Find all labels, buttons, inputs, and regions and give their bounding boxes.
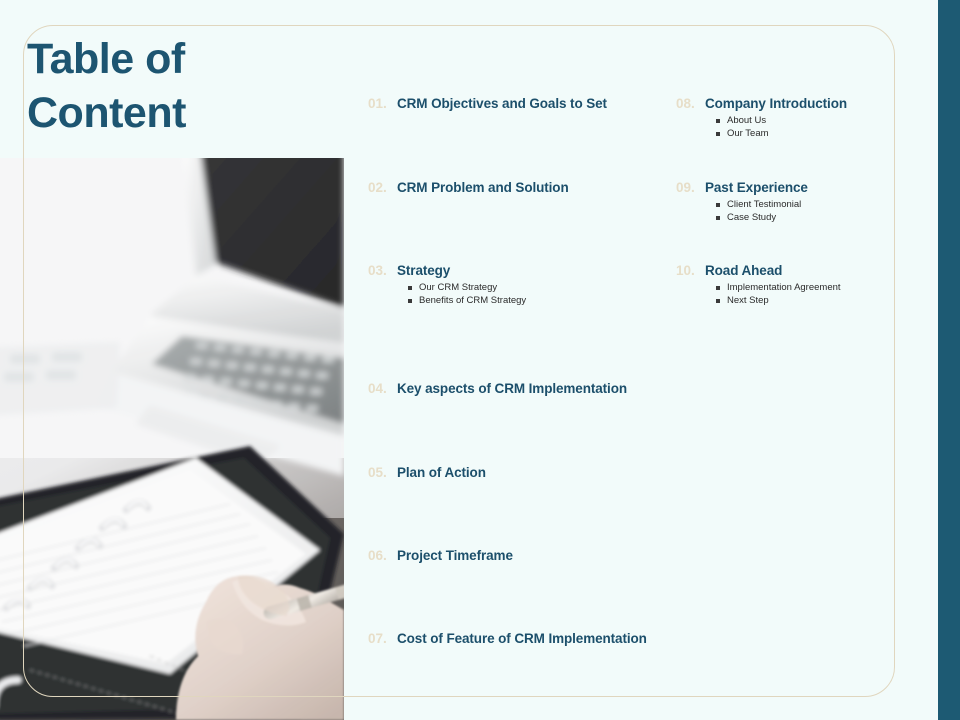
toc-subitem[interactable]: Client Testimonial bbox=[716, 198, 896, 211]
toc-entry-01[interactable]: 01. CRM Objectives and Goals to Set bbox=[368, 96, 668, 111]
toc-subitem[interactable]: Our Team bbox=[716, 127, 896, 140]
toc-entry-06-number: 06. bbox=[368, 548, 390, 563]
right-accent-bar bbox=[938, 0, 960, 720]
square-bullet-icon bbox=[716, 299, 720, 303]
toc-entry-04-title: Key aspects of CRM Implementation bbox=[397, 381, 627, 396]
square-bullet-icon bbox=[408, 299, 412, 303]
page-title-line-1: Table of bbox=[27, 32, 357, 86]
toc-entry-06-head: 06. Project Timeframe bbox=[368, 548, 668, 563]
slide-canvas: Table of Content 01. CRM Objectives and … bbox=[0, 0, 960, 720]
toc-entry-05[interactable]: 05. Plan of Action bbox=[368, 465, 668, 480]
square-bullet-icon bbox=[716, 119, 720, 123]
toc-entry-04-number: 04. bbox=[368, 381, 390, 396]
photo-illustration bbox=[0, 158, 344, 720]
toc-entry-10-sublist: Implementation Agreement Next Step bbox=[676, 281, 896, 307]
toc-entry-02-number: 02. bbox=[368, 180, 390, 195]
toc-subitem-label: Client Testimonial bbox=[727, 199, 801, 210]
toc-entry-03-number: 03. bbox=[368, 263, 390, 278]
toc-entry-09-head: 09. Past Experience bbox=[676, 180, 896, 195]
toc-entry-02-title: CRM Problem and Solution bbox=[397, 180, 569, 195]
toc-entry-09-sublist: Client Testimonial Case Study bbox=[676, 198, 896, 224]
toc-entry-09[interactable]: 09. Past Experience Client Testimonial C… bbox=[676, 180, 896, 224]
toc-entry-08-title: Company Introduction bbox=[705, 96, 847, 111]
toc-entry-02[interactable]: 02. CRM Problem and Solution bbox=[368, 180, 668, 195]
toc-subitem-label: Benefits of CRM Strategy bbox=[419, 295, 526, 306]
toc-entry-07[interactable]: 07. Cost of Feature of CRM Implementatio… bbox=[368, 631, 668, 646]
toc-subitem-label: Our Team bbox=[727, 128, 769, 139]
toc-entry-01-head: 01. CRM Objectives and Goals to Set bbox=[368, 96, 668, 111]
toc-entry-08[interactable]: 08. Company Introduction About Us Our Te… bbox=[676, 96, 896, 140]
toc-subitem[interactable]: Our CRM Strategy bbox=[408, 281, 668, 294]
toc-subitem-label: Next Step bbox=[727, 295, 769, 306]
square-bullet-icon bbox=[408, 286, 412, 290]
toc-subitem-label: Our CRM Strategy bbox=[419, 282, 497, 293]
toc-entry-09-number: 09. bbox=[676, 180, 698, 195]
toc-entry-03-head: 03. Strategy bbox=[368, 263, 668, 278]
toc-subitem[interactable]: Next Step bbox=[716, 294, 896, 307]
square-bullet-icon bbox=[716, 132, 720, 136]
square-bullet-icon bbox=[716, 203, 720, 207]
toc-entry-04[interactable]: 04. Key aspects of CRM Implementation bbox=[368, 381, 668, 396]
toc-entry-05-title: Plan of Action bbox=[397, 465, 486, 480]
toc-subitem-label: About Us bbox=[727, 115, 766, 126]
toc-entry-03-sublist: Our CRM Strategy Benefits of CRM Strateg… bbox=[368, 281, 668, 307]
square-bullet-icon bbox=[716, 216, 720, 220]
toc-entry-07-title: Cost of Feature of CRM Implementation bbox=[397, 631, 647, 646]
toc-entry-10-title: Road Ahead bbox=[705, 263, 782, 278]
toc-entry-08-number: 08. bbox=[676, 96, 698, 111]
toc-entry-08-sublist: About Us Our Team bbox=[676, 114, 896, 140]
toc-entry-06[interactable]: 06. Project Timeframe bbox=[368, 548, 668, 563]
workspace-photo bbox=[0, 158, 344, 720]
toc-entry-06-title: Project Timeframe bbox=[397, 548, 513, 563]
toc-entry-10-number: 10. bbox=[676, 263, 698, 278]
toc-entry-05-head: 05. Plan of Action bbox=[368, 465, 668, 480]
toc-subitem[interactable]: Case Study bbox=[716, 211, 896, 224]
toc-entry-07-number: 07. bbox=[368, 631, 390, 646]
square-bullet-icon bbox=[716, 286, 720, 290]
toc-subitem-label: Implementation Agreement bbox=[727, 282, 841, 293]
toc-entry-01-title: CRM Objectives and Goals to Set bbox=[397, 96, 607, 111]
toc-subitem-label: Case Study bbox=[727, 212, 776, 223]
toc-entry-10-head: 10. Road Ahead bbox=[676, 263, 896, 278]
toc-entry-08-head: 08. Company Introduction bbox=[676, 96, 896, 111]
toc-subitem[interactable]: Implementation Agreement bbox=[716, 281, 896, 294]
toc-subitem[interactable]: About Us bbox=[716, 114, 896, 127]
toc-entry-04-head: 04. Key aspects of CRM Implementation bbox=[368, 381, 668, 396]
page-title: Table of Content bbox=[27, 32, 357, 140]
toc-subitem[interactable]: Benefits of CRM Strategy bbox=[408, 294, 668, 307]
toc-entry-02-head: 02. CRM Problem and Solution bbox=[368, 180, 668, 195]
toc-entry-03-title: Strategy bbox=[397, 263, 450, 278]
page-title-line-2: Content bbox=[27, 86, 357, 140]
toc-entry-05-number: 05. bbox=[368, 465, 390, 480]
toc-entry-10[interactable]: 10. Road Ahead Implementation Agreement … bbox=[676, 263, 896, 307]
toc-entry-01-number: 01. bbox=[368, 96, 390, 111]
toc-entry-07-head: 07. Cost of Feature of CRM Implementatio… bbox=[368, 631, 668, 646]
toc-entry-09-title: Past Experience bbox=[705, 180, 808, 195]
toc-entry-03[interactable]: 03. Strategy Our CRM Strategy Benefits o… bbox=[368, 263, 668, 307]
